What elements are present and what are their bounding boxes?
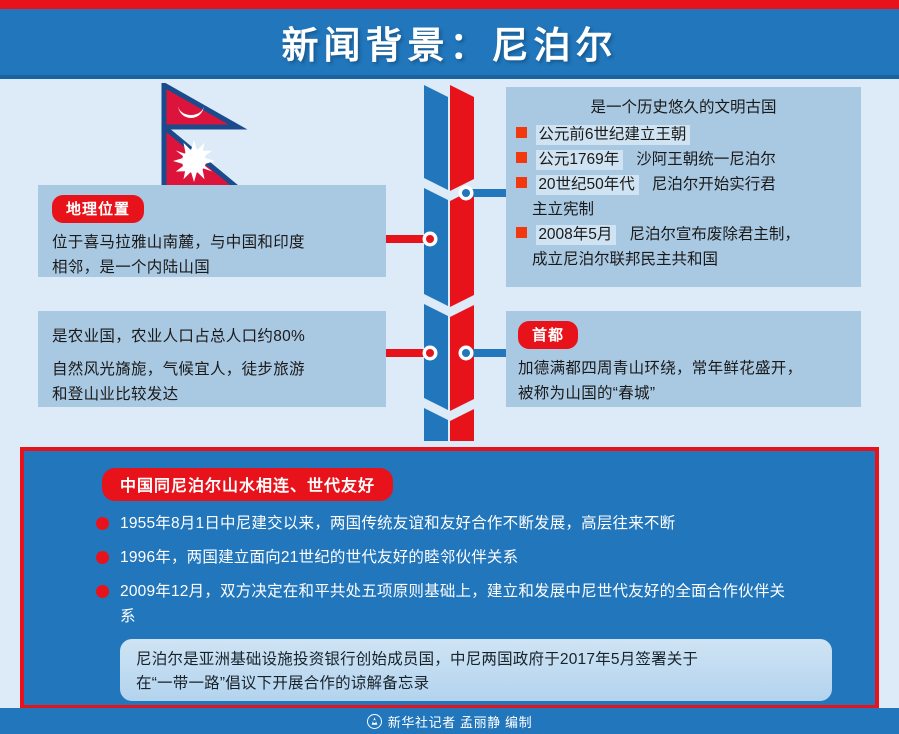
xinhua-logo-icon xyxy=(367,714,382,729)
agriculture-line-2: 自然风光旖旎，气候宜人，徒步旅游 xyxy=(52,357,372,382)
connector-agriculture xyxy=(384,345,440,361)
friendship-list: 1955年8月1日中尼建交以来，两国传统友谊和友好合作不断发展，高层往来不断 1… xyxy=(96,511,875,629)
footer-credit: 新华社记者 孟丽静 编制 xyxy=(388,712,532,731)
friendship-panel: 中国同尼泊尔山水相连、世代友好 1955年8月1日中尼建交以来，两国传统友谊和友… xyxy=(20,447,879,709)
geography-line-2: 相邻，是一个内陆山国 xyxy=(52,255,372,280)
list-item: 1996年，两国建立面向21世纪的世代友好的睦邻伙伴关系 xyxy=(96,545,875,570)
history-item: 20世纪50年代 尼泊尔开始实行君 xyxy=(516,172,851,197)
capital-line-1: 加德满都四周青山环绕，常年鲜花盛开， xyxy=(518,356,849,381)
friendship-inset-card: 尼泊尔是亚洲基础设施投资银行创始成员国，中尼两国政府于2017年5月签署关于 在… xyxy=(120,639,832,701)
list-item: 1955年8月1日中尼建交以来，两国传统友谊和友好合作不断发展，高层往来不断 xyxy=(96,511,875,536)
connector-history xyxy=(456,185,508,201)
history-item-rest: 尼泊尔开始实行君 xyxy=(652,176,776,193)
round-bullet-icon xyxy=(96,585,109,598)
connector-geography xyxy=(384,231,440,247)
history-item-rest: 沙阿王朝统一尼泊尔 xyxy=(636,151,776,168)
friendship-label: 中国同尼泊尔山水相连、世代友好 xyxy=(102,468,393,501)
history-item-continuation: 成立尼泊尔联邦民主共和国 xyxy=(516,247,851,272)
capital-line-2: 被称为山国的“春城” xyxy=(518,381,849,406)
central-ribbon-graphic xyxy=(420,79,482,441)
history-item: 2008年5月 尼泊尔宣布废除君主制， xyxy=(516,222,851,247)
geography-card: 地理位置 位于喜马拉雅山南麓，与中国和印度 相邻，是一个内陆山国 xyxy=(38,185,386,277)
square-bullet-icon xyxy=(516,127,527,138)
history-item-highlight: 公元1769年 xyxy=(536,150,623,170)
square-bullet-icon xyxy=(516,152,527,163)
infographic-canvas: 地理位置 位于喜马拉雅山南麓，与中国和印度 相邻，是一个内陆山国 是农业国，农业… xyxy=(0,79,899,734)
top-red-accent-bar xyxy=(0,0,899,9)
history-item-highlight: 公元前6世纪建立王朝 xyxy=(536,125,690,145)
history-item-rest: 尼泊尔宣布废除君主制， xyxy=(629,226,800,243)
history-card: 是一个历史悠久的文明古国 公元前6世纪建立王朝 公元1769年 沙阿王朝统一尼泊… xyxy=(506,87,861,287)
connector-capital xyxy=(456,345,508,361)
list-item: 2009年12月，双方决定在和平共处五项原则基础上，建立和发展中尼世代友好的全面… xyxy=(96,579,796,629)
page-title: 新闻背景：尼泊尔 xyxy=(282,15,618,69)
geography-line-1: 位于喜马拉雅山南麓，与中国和印度 xyxy=(52,230,372,255)
list-item-text: 2009年12月，双方决定在和平共处五项原则基础上，建立和发展中尼世代友好的全面… xyxy=(120,583,785,625)
footer-bar: 新华社记者 孟丽静 编制 xyxy=(0,708,899,734)
agriculture-line-1: 是农业国，农业人口占总人口约80% xyxy=(52,324,372,349)
header-band: 新闻背景：尼泊尔 xyxy=(0,9,899,75)
list-item-text: 1955年8月1日中尼建交以来，两国传统友谊和友好合作不断发展，高层往来不断 xyxy=(120,515,675,532)
agriculture-card: 是农业国，农业人口占总人口约80% 自然风光旖旎，气候宜人，徒步旅游 和登山业比… xyxy=(38,311,386,407)
square-bullet-icon xyxy=(516,177,527,188)
agriculture-line-3: 和登山业比较发达 xyxy=(52,382,372,407)
history-intro: 是一个历史悠久的文明古国 xyxy=(516,95,851,120)
inset-line-1: 尼泊尔是亚洲基础设施投资银行创始成员国，中尼两国政府于2017年5月签署关于 xyxy=(136,648,816,672)
round-bullet-icon xyxy=(96,517,109,530)
history-item: 公元1769年 沙阿王朝统一尼泊尔 xyxy=(516,147,851,172)
history-item: 公元前6世纪建立王朝 xyxy=(516,122,851,147)
inset-line-2: 在“一带一路”倡议下开展合作的谅解备忘录 xyxy=(136,672,816,696)
list-item-text: 1996年，两国建立面向21世纪的世代友好的睦邻伙伴关系 xyxy=(120,549,518,566)
capital-card: 首都 加德满都四周青山环绕，常年鲜花盛开， 被称为山国的“春城” xyxy=(506,311,861,407)
geography-label: 地理位置 xyxy=(52,195,144,223)
history-item-highlight: 20世纪50年代 xyxy=(536,175,638,195)
capital-label: 首都 xyxy=(518,321,578,349)
round-bullet-icon xyxy=(96,551,109,564)
square-bullet-icon xyxy=(516,227,527,238)
history-item-highlight: 2008年5月 xyxy=(536,225,616,245)
history-item-continuation: 主立宪制 xyxy=(516,197,851,222)
